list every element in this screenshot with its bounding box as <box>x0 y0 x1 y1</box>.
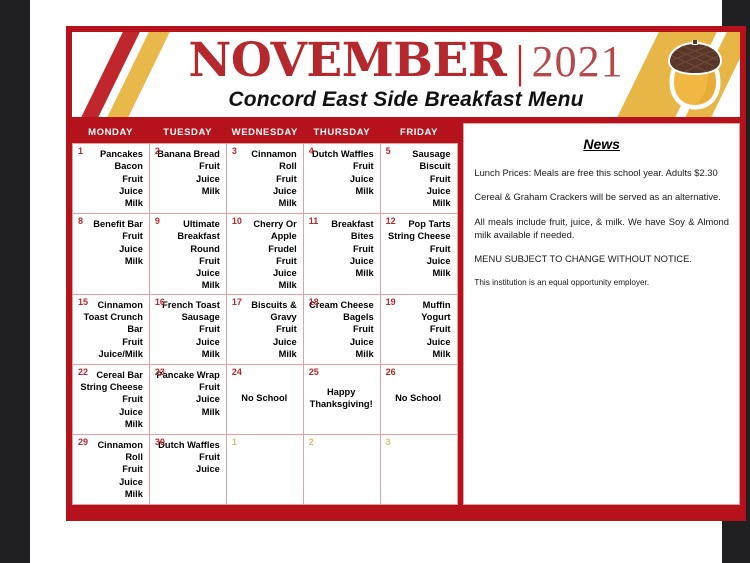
calendar-week-row: 1PancakesBaconFruitJuiceMilk2Banana Brea… <box>73 144 457 214</box>
day-number: 1 <box>78 146 83 156</box>
menu-items: Ultimate BreakfastRoundFruitJuiceMilk <box>155 218 220 292</box>
menu-item: Fruit <box>309 160 374 172</box>
banner-title-row: NOVEMBER | 2021 <box>188 37 623 84</box>
news-paragraph: Lunch Prices: Meals are free this school… <box>474 166 729 179</box>
menu-item: Fruit <box>78 336 143 348</box>
calendar-day-cell[interactable]: 15CinnamonToast CrunchBarFruitJuice/Milk <box>73 295 150 364</box>
menu-items: Biscuits & GravyFruitJuiceMilk <box>232 299 297 360</box>
day-number: 16 <box>155 297 165 307</box>
day-number: 19 <box>386 297 396 307</box>
day-header-friday: FRIDAY <box>380 123 457 143</box>
menu-items: Cinnamon RollFruitJuiceMilk <box>232 148 297 209</box>
menu-item: Milk <box>78 488 143 500</box>
menu-item: Milk <box>386 348 451 360</box>
menu-item: Fruit <box>155 381 220 393</box>
menu-item: Toast Crunch <box>78 311 143 323</box>
day-number: 25 <box>309 367 319 377</box>
menu-item: Juice <box>309 255 374 267</box>
menu-item: Fruit <box>78 230 143 242</box>
menu-items: MuffinYogurtFruitJuiceMilk <box>386 299 451 360</box>
day-number: 3 <box>232 146 237 156</box>
calendar-body: MONDAY TUESDAY WEDNESDAY THURSDAY FRIDAY… <box>72 123 740 505</box>
menu-item: Juice <box>386 185 451 197</box>
calendar-week-row: 29Cinnamon RollFruitJuiceMilk30Dutch Waf… <box>73 435 457 504</box>
day-number: 24 <box>232 367 242 377</box>
calendar-day-cell[interactable]: 4Dutch WafflesFruitJuiceMilk <box>304 144 381 213</box>
day-number: 8 <box>78 216 83 226</box>
news-paragraph: Cereal & Graham Crackers will be served … <box>474 190 729 203</box>
menu-items: Cherry Or AppleFrudelFruitJuiceMilk <box>232 218 297 292</box>
day-header-wednesday: WEDNESDAY <box>226 123 303 143</box>
calendar-day-cell[interactable]: 17Biscuits & GravyFruitJuiceMilk <box>227 295 304 364</box>
menu-item: Sausage Biscuit <box>386 148 451 173</box>
calendar-day-cell[interactable]: 30Dutch WafflesFruitJuice <box>150 435 227 504</box>
calendar-day-cell[interactable]: 9Ultimate BreakfastRoundFruitJuiceMilk <box>150 214 227 294</box>
calendar-day-cell[interactable]: 11Breakfast BitesFruitJuiceMilk <box>304 214 381 294</box>
calendar-day-cell[interactable]: 3Cinnamon RollFruitJuiceMilk <box>227 144 304 213</box>
day-number: 1 <box>232 437 237 447</box>
red-frame: NOVEMBER | 2021 Concord East Side Breakf… <box>66 26 746 521</box>
calendar-day-cell[interactable]: 1PancakesBaconFruitJuiceMilk <box>73 144 150 213</box>
year-title: 2021 <box>532 40 624 84</box>
menu-item: Juice <box>232 336 297 348</box>
day-number: 30 <box>155 437 165 447</box>
menu-item: Milk <box>78 197 143 209</box>
menu-item: Fruit <box>232 323 297 335</box>
menu-item: Benefit Bar <box>78 218 143 230</box>
menu-item: Round <box>155 243 220 255</box>
day-header-tuesday: TUESDAY <box>149 123 226 143</box>
menu-item: Ultimate Breakfast <box>155 218 220 243</box>
day-number: 11 <box>309 216 319 226</box>
calendar-day-cell[interactable]: 1 <box>227 435 304 504</box>
menu-items: Banana BreadFruitJuiceMilk <box>155 148 220 197</box>
menu-item: Juice/Milk <box>78 348 143 360</box>
menu-item: Frudel <box>232 243 297 255</box>
menu-item: Pancakes <box>78 148 143 160</box>
menu-item: Fruit <box>155 255 220 267</box>
menu-item: Milk <box>232 279 297 291</box>
day-number: 22 <box>78 367 88 377</box>
menu-items: French ToastSausageFruitJuiceMilk <box>155 299 220 360</box>
calendar-day-cell[interactable]: 23Pancake WrapFruitJuiceMilk <box>150 365 227 434</box>
news-paragraph: MENU SUBJECT TO CHANGE WITHOUT NOTICE. <box>474 252 729 265</box>
calendar-day-cell[interactable]: 29Cinnamon RollFruitJuiceMilk <box>73 435 150 504</box>
menu-item: Fruit <box>232 173 297 185</box>
menu-items: Cinnamon RollFruitJuiceMilk <box>78 439 143 500</box>
menu-items: Pop TartsString CheeseFruitJuiceMilk <box>386 218 451 279</box>
calendar-grid-wrapper: MONDAY TUESDAY WEDNESDAY THURSDAY FRIDAY… <box>72 123 458 505</box>
menu-item: Fruit <box>309 243 374 255</box>
news-panel: News Lunch Prices: Meals are free this s… <box>463 123 740 505</box>
day-number: 12 <box>386 216 396 226</box>
menu-item: Milk <box>155 185 220 197</box>
menu-item: Fruit <box>155 451 220 463</box>
banner-text-block: NOVEMBER | 2021 Concord East Side Breakf… <box>72 32 740 117</box>
day-header-thursday: THURSDAY <box>303 123 380 143</box>
menu-item: Milk <box>386 267 451 279</box>
banner: NOVEMBER | 2021 Concord East Side Breakf… <box>72 32 740 117</box>
menu-item: Juice <box>155 267 220 279</box>
menu-item: Breakfast Bites <box>309 218 374 243</box>
menu-item: Dutch Waffles <box>309 148 374 160</box>
menu-item: Juice <box>232 185 297 197</box>
menu-item: Juice <box>232 267 297 279</box>
menu-item: Juice <box>78 243 143 255</box>
calendar-day-cell[interactable]: 8Benefit BarFruitJuiceMilk <box>73 214 150 294</box>
menu-item: Fruit <box>386 323 451 335</box>
menu-items: Cream CheeseBagelsFruitJuiceMilk <box>309 299 374 360</box>
menu-item: Fruit <box>155 160 220 172</box>
menu-item: Milk <box>155 279 220 291</box>
calendar-day-cell[interactable]: 2Banana BreadFruitJuiceMilk <box>150 144 227 213</box>
menu-item: Juice <box>386 255 451 267</box>
news-body: Lunch Prices: Meals are free this school… <box>474 166 729 288</box>
menu-items: PancakesBaconFruitJuiceMilk <box>78 148 143 209</box>
day-number: 5 <box>386 146 391 156</box>
menu-items: Cereal BarString CheeseFruitJuiceMilk <box>78 369 143 430</box>
title-separator: | <box>515 39 524 85</box>
menu-item: Juice <box>386 336 451 348</box>
menu-items: CinnamonToast CrunchBarFruitJuice/Milk <box>78 299 143 360</box>
day-number: 10 <box>232 216 242 226</box>
menu-item: Juice <box>78 406 143 418</box>
menu-item: Juice <box>78 185 143 197</box>
calendar-week-row: 15CinnamonToast CrunchBarFruitJuice/Milk… <box>73 295 457 365</box>
menu-item: No School <box>395 392 441 404</box>
menu-item: Fruit <box>386 243 451 255</box>
month-title: NOVEMBER <box>188 37 506 84</box>
menu-item: Fruit <box>155 323 220 335</box>
day-number: 2 <box>155 146 160 156</box>
menu-item: Sausage <box>155 311 220 323</box>
menu-item: Fruit <box>78 173 143 185</box>
menu-items: Dutch WafflesFruitJuiceMilk <box>309 148 374 197</box>
calendar-day-cell[interactable]: 16French ToastSausageFruitJuiceMilk <box>150 295 227 364</box>
calendar-page: NOVEMBER | 2021 Concord East Side Breakf… <box>30 0 722 563</box>
menu-item: Happy <box>310 386 373 398</box>
day-header-row: MONDAY TUESDAY WEDNESDAY THURSDAY FRIDAY <box>72 123 458 143</box>
day-number: 4 <box>309 146 314 156</box>
day-number: 29 <box>78 437 88 447</box>
menu-item: Bagels <box>309 311 374 323</box>
news-paragraph: All meals include fruit, juice, & milk. … <box>474 215 729 242</box>
menu-item: Yogurt <box>386 311 451 323</box>
menu-item: Fruit <box>78 463 143 475</box>
menu-item: Milk <box>309 267 374 279</box>
calendar-day-cell[interactable]: 2 <box>304 435 381 504</box>
menu-item: Juice <box>155 393 220 405</box>
calendar-day-cell[interactable]: 19MuffinYogurtFruitJuiceMilk <box>381 295 457 364</box>
day-number: 9 <box>155 216 160 226</box>
calendar-day-cell[interactable]: 3 <box>381 435 457 504</box>
banner-subtitle: Concord East Side Breakfast Menu <box>228 88 583 112</box>
calendar-week-row: 22Cereal BarString CheeseFruitJuiceMilk2… <box>73 365 457 435</box>
menu-item: String Cheese <box>78 381 143 393</box>
menu-item: Milk <box>232 197 297 209</box>
menu-item: Milk <box>78 418 143 430</box>
calendar-day-cell[interactable]: 26No School <box>381 365 457 434</box>
calendar-day-cell[interactable]: 25HappyThanksgiving! <box>304 365 381 434</box>
menu-item: Milk <box>78 255 143 267</box>
menu-item: Thanksgiving! <box>310 398 373 410</box>
menu-item: Milk <box>155 406 220 418</box>
menu-item: Juice <box>78 476 143 488</box>
day-number: 3 <box>386 437 391 447</box>
menu-items: Breakfast BitesFruitJuiceMilk <box>309 218 374 279</box>
menu-item: Milk <box>309 185 374 197</box>
menu-item: Juice <box>155 336 220 348</box>
menu-item: Milk <box>232 348 297 360</box>
news-title: News <box>474 136 729 152</box>
news-footnote: This institution is an equal opportunity… <box>474 277 729 289</box>
menu-items: Benefit BarFruitJuiceMilk <box>78 218 143 267</box>
calendar-week-row: 8Benefit BarFruitJuiceMilk9Ultimate Brea… <box>73 214 457 295</box>
menu-item: Juice <box>155 173 220 185</box>
calendar-day-cell[interactable]: 5Sausage BiscuitFruitJuiceMilk <box>381 144 457 213</box>
day-number: 17 <box>232 297 242 307</box>
calendar-grid: 1PancakesBaconFruitJuiceMilk2Banana Brea… <box>72 143 458 505</box>
menu-item: String Cheese <box>386 230 451 242</box>
menu-items: Sausage BiscuitFruitJuiceMilk <box>386 148 451 209</box>
menu-item: Fruit <box>232 255 297 267</box>
calendar-day-cell[interactable]: 24No School <box>227 365 304 434</box>
day-number: 23 <box>155 367 165 377</box>
menu-item: Juice <box>309 336 374 348</box>
day-header-monday: MONDAY <box>72 123 149 143</box>
menu-item: Fruit <box>386 173 451 185</box>
menu-item: Milk <box>309 348 374 360</box>
menu-item: Fruit <box>78 393 143 405</box>
menu-item: Fruit <box>309 323 374 335</box>
calendar-day-cell[interactable]: 18Cream CheeseBagelsFruitJuiceMilk <box>304 295 381 364</box>
menu-item: Bar <box>78 323 143 335</box>
menu-item: Cinnamon Roll <box>232 148 297 173</box>
day-number: 26 <box>386 367 396 377</box>
menu-item: No School <box>241 392 287 404</box>
menu-item: Milk <box>386 197 451 209</box>
day-number: 2 <box>309 437 314 447</box>
menu-item: Bacon <box>78 160 143 172</box>
calendar-day-cell[interactable]: 12Pop TartsString CheeseFruitJuiceMilk <box>381 214 457 294</box>
acorn-icon <box>664 38 726 110</box>
menu-item: Banana Bread <box>155 148 220 160</box>
menu-item: Milk <box>155 348 220 360</box>
menu-item: Juice <box>309 173 374 185</box>
day-number: 18 <box>309 297 319 307</box>
calendar-day-cell[interactable]: 22Cereal BarString CheeseFruitJuiceMilk <box>73 365 150 434</box>
calendar-day-cell[interactable]: 10Cherry Or AppleFrudelFruitJuiceMilk <box>227 214 304 294</box>
day-number: 15 <box>78 297 88 307</box>
menu-item: Juice <box>155 463 220 475</box>
